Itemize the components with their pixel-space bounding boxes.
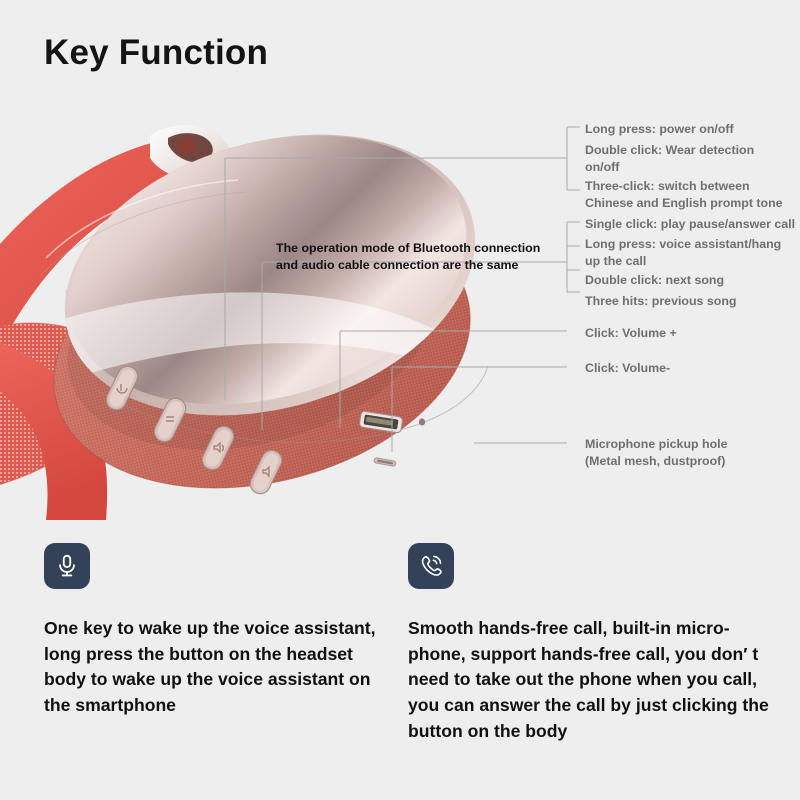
callout-volume-up: Click: Volume + [585,325,755,342]
microphone-icon [54,553,80,579]
callout-double-click-next-song: Double click: next song [585,272,785,289]
callout-long-press-voice-assistant: Long press: voice assistant/hang up the … [585,236,785,269]
callout-power-on-off: Long press: power on/off [585,121,795,138]
callout-prompt-tone-language: Three-click: switch between Chinese and … [585,178,790,211]
page-title: Key Function [44,34,268,73]
feature-hands-free-call: Smooth hands-free call, built-in micro-p… [408,543,780,744]
product-image [0,100,600,520]
bluetooth-audio-note: The operation mode of Bluetooth connecti… [276,240,558,273]
phone-call-icon-tile [408,543,454,589]
callout-wear-detection: Double click: Wear detection on/off [585,142,785,175]
feature-voice-assistant-text: One key to wake up the voice assistant, … [44,616,394,719]
infographic-canvas: Key Function [0,0,800,800]
microphone-icon-tile [44,543,90,589]
callout-single-click-play: Single click: play pause/answer call [585,216,800,233]
phone-call-icon [418,553,444,579]
callout-microphone-pickup-hole: Microphone pickup hole (Metal mesh, dust… [585,436,785,469]
callout-volume-down: Click: Volume- [585,360,755,377]
feature-hands-free-call-text: Smooth hands-free call, built-in micro-p… [408,616,780,744]
note-line-1: The operation mode of Bluetooth connecti… [276,240,558,257]
callout-three-hits-previous-song: Three hits: previous song [585,293,785,310]
note-line-2: and audio cable connection are the same [276,257,558,274]
feature-voice-assistant: One key to wake up the voice assistant, … [44,543,394,719]
